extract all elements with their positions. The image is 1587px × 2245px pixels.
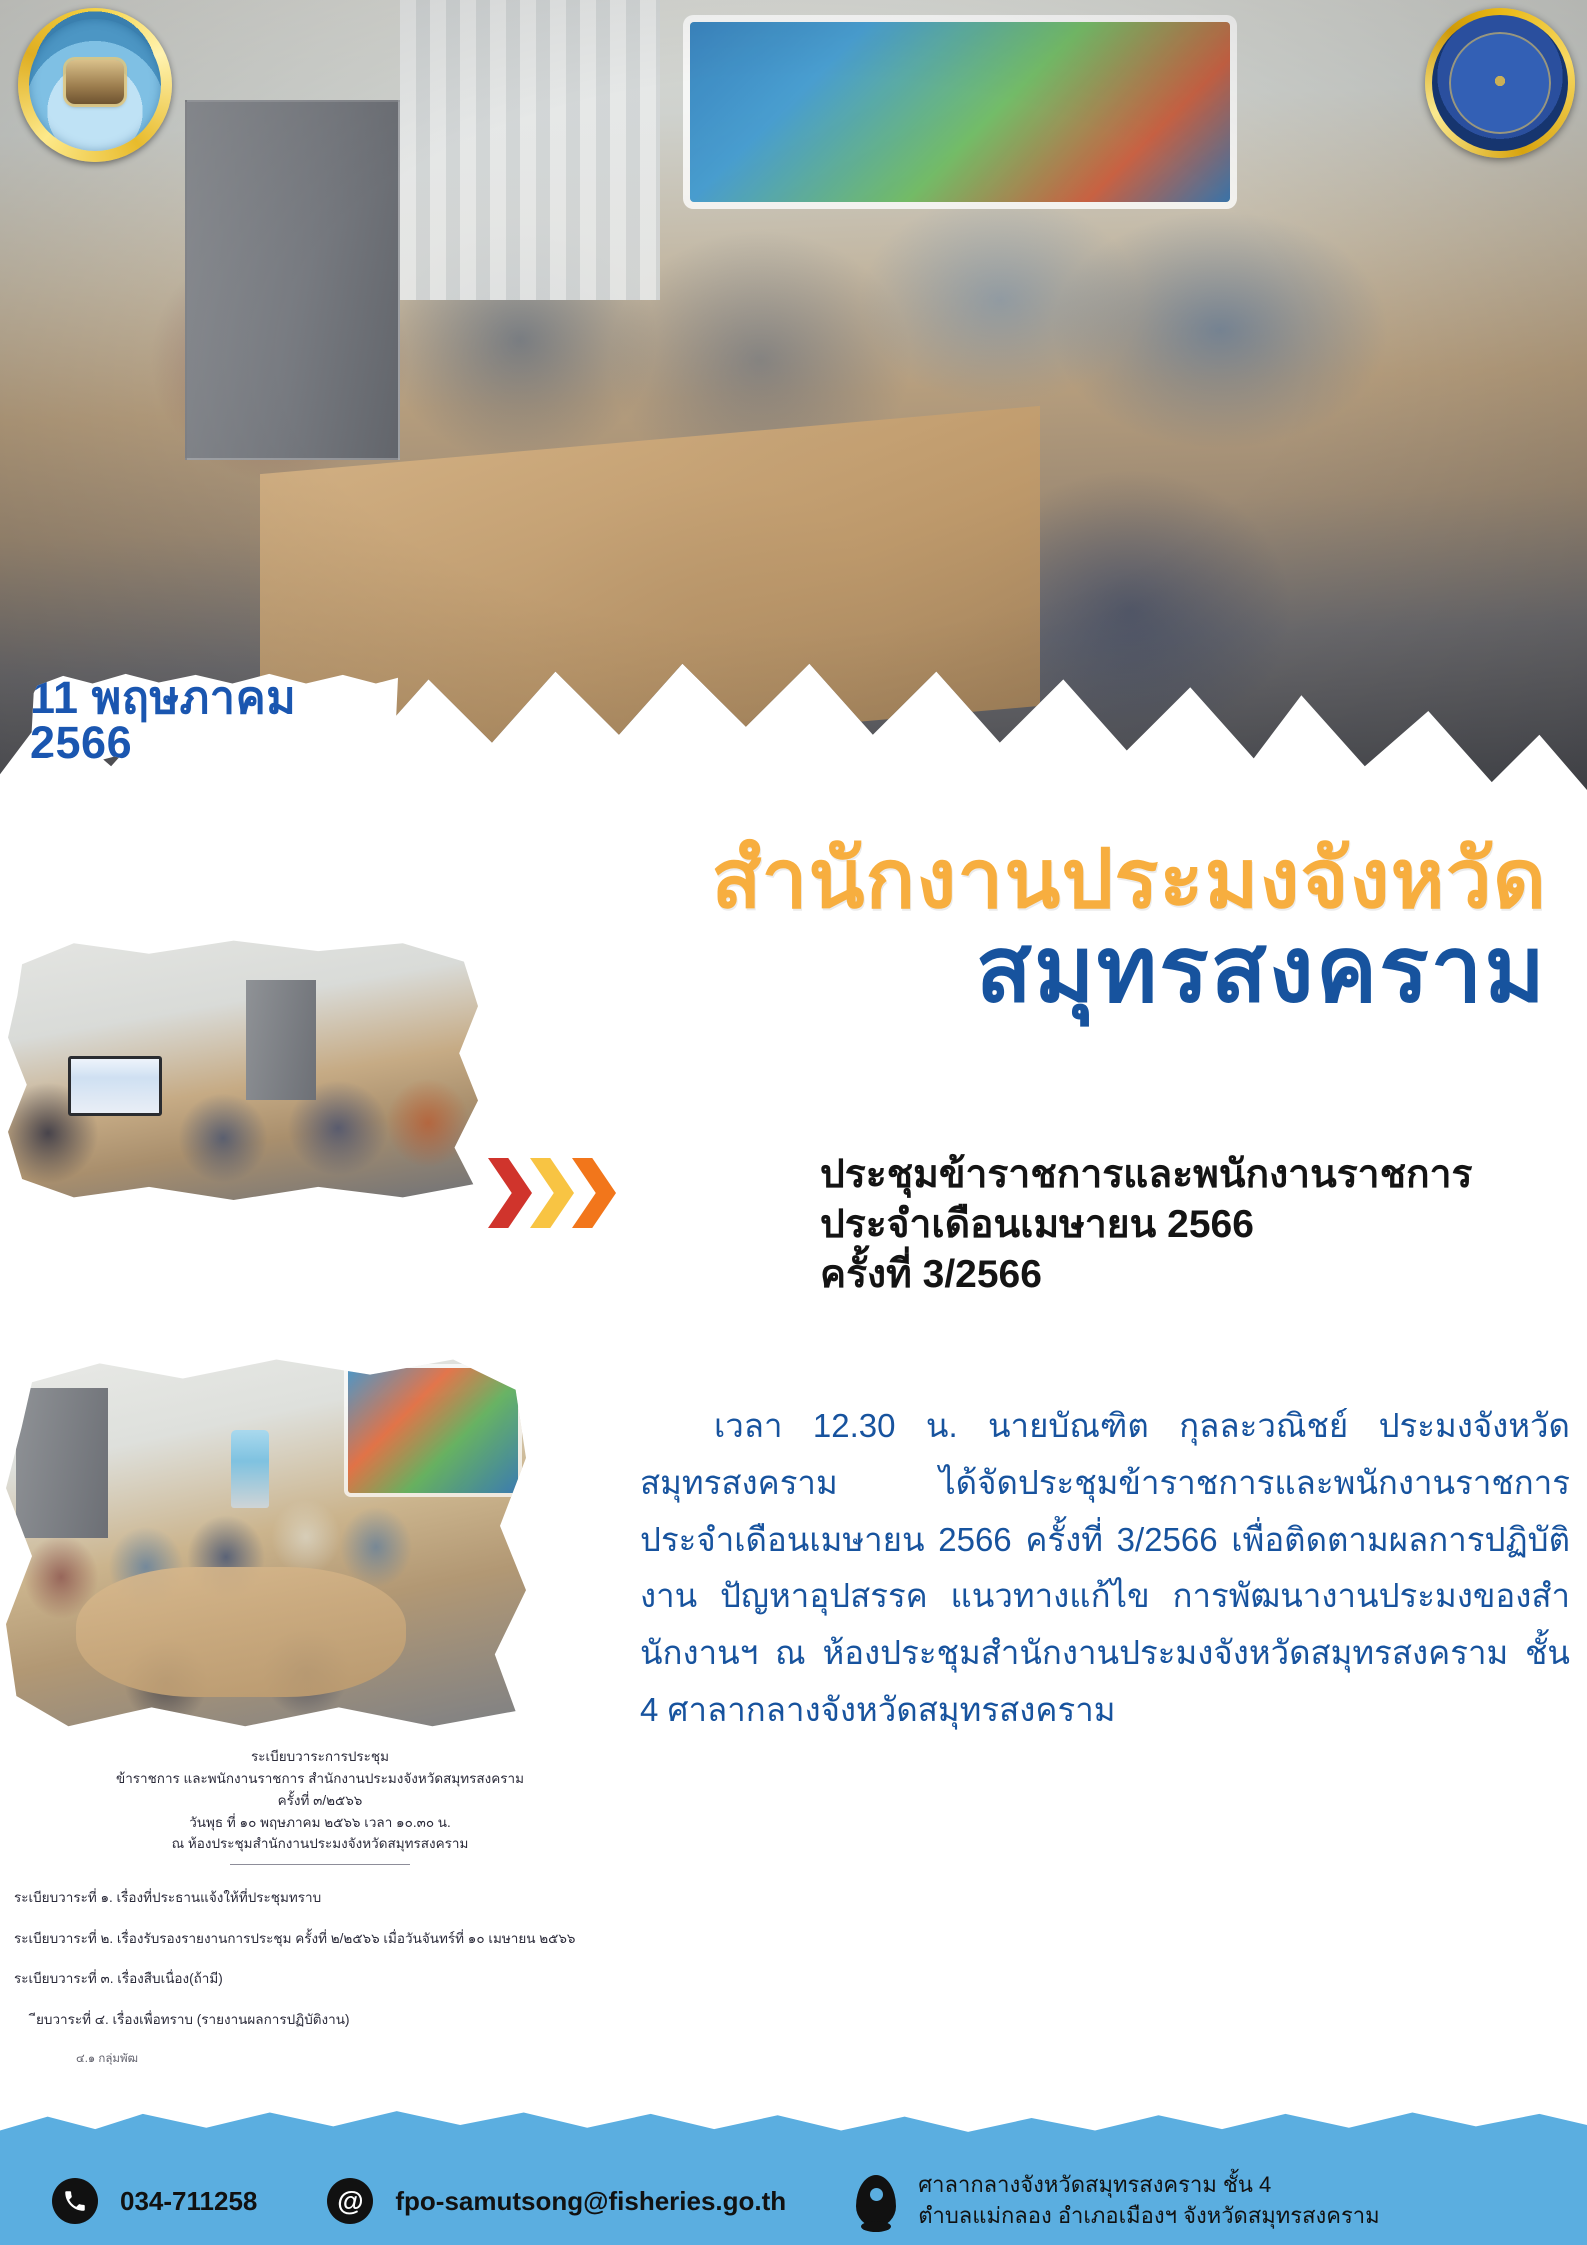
hero-vignette bbox=[0, 0, 1587, 790]
agenda-document-fade bbox=[0, 2080, 660, 2124]
chevron-right-icon-orange bbox=[572, 1158, 616, 1228]
subtitle-line-2: ประจำเดือนเมษายน 2566 bbox=[820, 1200, 1580, 1250]
agenda-subitem: ๔.๑ กลุ่มพัฒ bbox=[14, 2050, 626, 2068]
chevron-right-icon-red bbox=[488, 1158, 532, 1228]
department-of-fisheries-seal-icon bbox=[1425, 8, 1575, 158]
agenda-heading-line-2: ข้าราชการ และพนักงานราชการ สำนักงานประมง… bbox=[0, 1768, 640, 1790]
agenda-heading-line-1: ระเบียบวาระการประชุม bbox=[0, 1746, 640, 1768]
agenda-heading-line-5: ณ ห้องประชุมสำนักงานประมงจังหวัดสมุทรสงค… bbox=[0, 1833, 640, 1855]
agenda-document-heading: ระเบียบวาระการประชุม ข้าราชการ และพนักงา… bbox=[0, 1736, 640, 1865]
agenda-item-list: ระเบียบวาระที่ ๑. เรื่องที่ประธานแจ้งให้… bbox=[0, 1865, 640, 2068]
location-pin-icon bbox=[856, 2175, 896, 2227]
photo-meeting-side-view bbox=[8, 938, 478, 1200]
body-paragraph: เวลา 12.30 น. นายบัณฑิต กุลละวณิชย์ ประม… bbox=[640, 1398, 1570, 1739]
title-line-1: สำนักงานประมงจังหวัด bbox=[0, 840, 1547, 920]
agenda-item: ระเบียบวาระที่ ๑. เรื่องที่ประธานแจ้งให้… bbox=[14, 1887, 626, 1909]
agenda-item: ระเบียบวาระที่ ๒. เรื่องรับรองรายงานการป… bbox=[14, 1928, 626, 1950]
photo3-water-cooler bbox=[231, 1430, 269, 1508]
subtitle-line-1: ประชุมข้าราชการและพนักงานราชการ bbox=[820, 1150, 1580, 1200]
email-at-icon: @ bbox=[327, 2178, 373, 2224]
agenda-document: ระเบียบวาระการประชุม ข้าราชการ และพนักงา… bbox=[0, 1736, 640, 2116]
photo3-cabinet bbox=[16, 1388, 108, 1538]
body-description: เวลา 12.30 น. นายบัณฑิต กุลละวณิชย์ ประม… bbox=[640, 1398, 1570, 1739]
footer-address-line-1: ศาลากลางจังหวัดสมุทรสงคราม ชั้น 4 bbox=[918, 2170, 1379, 2201]
agenda-heading-line-4: วันพุธ ที่ ๑๐ พฤษภาคม ๒๕๖๖ เวลา ๑๐.๓๐ น. bbox=[0, 1812, 640, 1834]
footer-email-address[interactable]: fpo-samutsong@fisheries.go.th bbox=[395, 2186, 786, 2217]
footer-address-line-2: ตำบลแม่กลอง อำเภอเมืองฯ จังหวัดสมุทรสงคร… bbox=[918, 2201, 1379, 2232]
footer-address: ศาลากลางจังหวัดสมุทรสงคราม ชั้น 4 ตำบลแม… bbox=[918, 2170, 1379, 2232]
photo3-wall-poster bbox=[348, 1368, 518, 1493]
photo2-cabinet bbox=[246, 980, 316, 1100]
footer-phone-number[interactable]: 034-711258 bbox=[120, 2186, 257, 2217]
photo-meeting-wide-view bbox=[6, 1352, 526, 1730]
footer-contact-bar: 034-711258 @ fpo-samutsong@fisheries.go.… bbox=[0, 2107, 1587, 2245]
chevron-arrows-group bbox=[488, 1158, 648, 1228]
photo3-round-table bbox=[76, 1567, 406, 1697]
subtitle-line-3: ครั้งที่ 3/2566 bbox=[820, 1250, 1580, 1300]
date-banner: 11 พฤษภาคม 2566 bbox=[30, 672, 398, 768]
province-seal-icon bbox=[18, 8, 172, 162]
date-banner-text: 11 พฤษภาคม 2566 bbox=[30, 675, 398, 765]
chevron-right-icon-yellow bbox=[530, 1158, 574, 1228]
agenda-heading-line-3: ครั้งที่ ๓/๒๕๖๖ bbox=[0, 1790, 640, 1812]
phone-icon bbox=[52, 2178, 98, 2224]
subtitle-block: ประชุมข้าราชการและพนักงานราชการ ประจำเดื… bbox=[820, 1150, 1580, 1300]
agenda-item: ระเบียบวาระที่ ๓. เรื่องสืบเนื่อง(ถ้ามี) bbox=[14, 1968, 626, 1990]
photo2-monitor-screen bbox=[68, 1056, 162, 1116]
hero-photo-meeting-room bbox=[0, 0, 1587, 790]
agenda-item: ียบวาระที่ ๔. เรื่องเพื่อทราบ (รายงานผลก… bbox=[14, 2009, 626, 2031]
